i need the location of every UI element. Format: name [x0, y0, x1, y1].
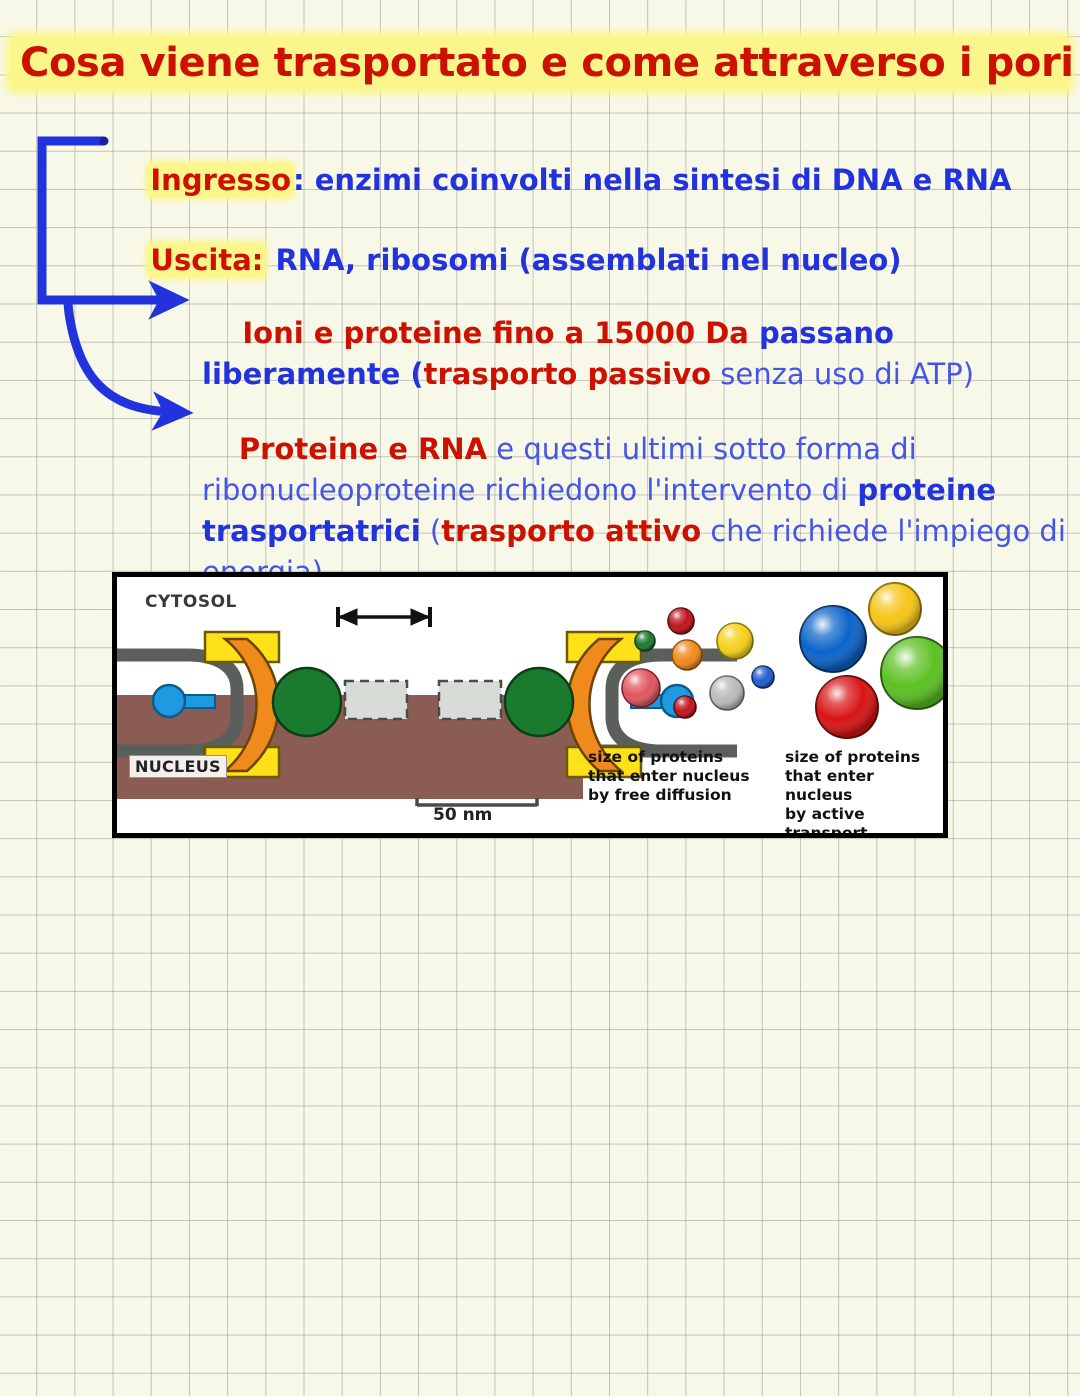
protein-green-small — [635, 631, 655, 651]
text-ingresso: : enzimi coinvolti nella sintesi di DNA … — [293, 163, 1011, 197]
ioni-part1: Ioni e proteine fino a 15000 Da — [242, 316, 748, 350]
ioni-part4: senza uso di ATP) — [711, 357, 974, 391]
slide-page: Cosa viene trasportato e come attraverso… — [0, 0, 1080, 1396]
protein-red-tiny — [674, 696, 696, 718]
protein-red-dark — [668, 608, 694, 634]
protein-gray — [710, 676, 744, 710]
protein-yellow-large — [869, 583, 921, 635]
protein-green-large — [881, 637, 943, 709]
proteine-part5: trasporto attivo — [441, 514, 701, 548]
caption-free-diffusion: size of proteins that enter nucleus by f… — [588, 748, 750, 805]
protein-pink-red — [622, 669, 660, 707]
ioni-part3: trasporto passivo — [424, 357, 711, 391]
proteine-part4: ( — [421, 514, 442, 548]
label-cytosol: CYTOSOL — [145, 592, 237, 612]
protein-blue-small — [752, 666, 774, 688]
label-ingresso: Ingresso — [148, 163, 293, 197]
protein-orange — [672, 640, 702, 670]
protein-blue-large — [800, 606, 866, 672]
nuclear-pore-figure: CYTOSOL NUCLEUS 50 nm size of proteins t… — [112, 572, 948, 838]
protein-red-large — [816, 676, 878, 738]
caption-active-transport: size of proteins that enter nucleus by a… — [785, 748, 943, 838]
protein-yellow-small — [717, 623, 753, 659]
proteine-part1: Proteine e RNA — [239, 432, 487, 466]
label-nucleus: NUCLEUS — [129, 755, 227, 778]
label-scale-50nm: 50 nm — [433, 805, 492, 825]
page-title: Cosa viene trasportato e come attraverso… — [20, 36, 1070, 90]
